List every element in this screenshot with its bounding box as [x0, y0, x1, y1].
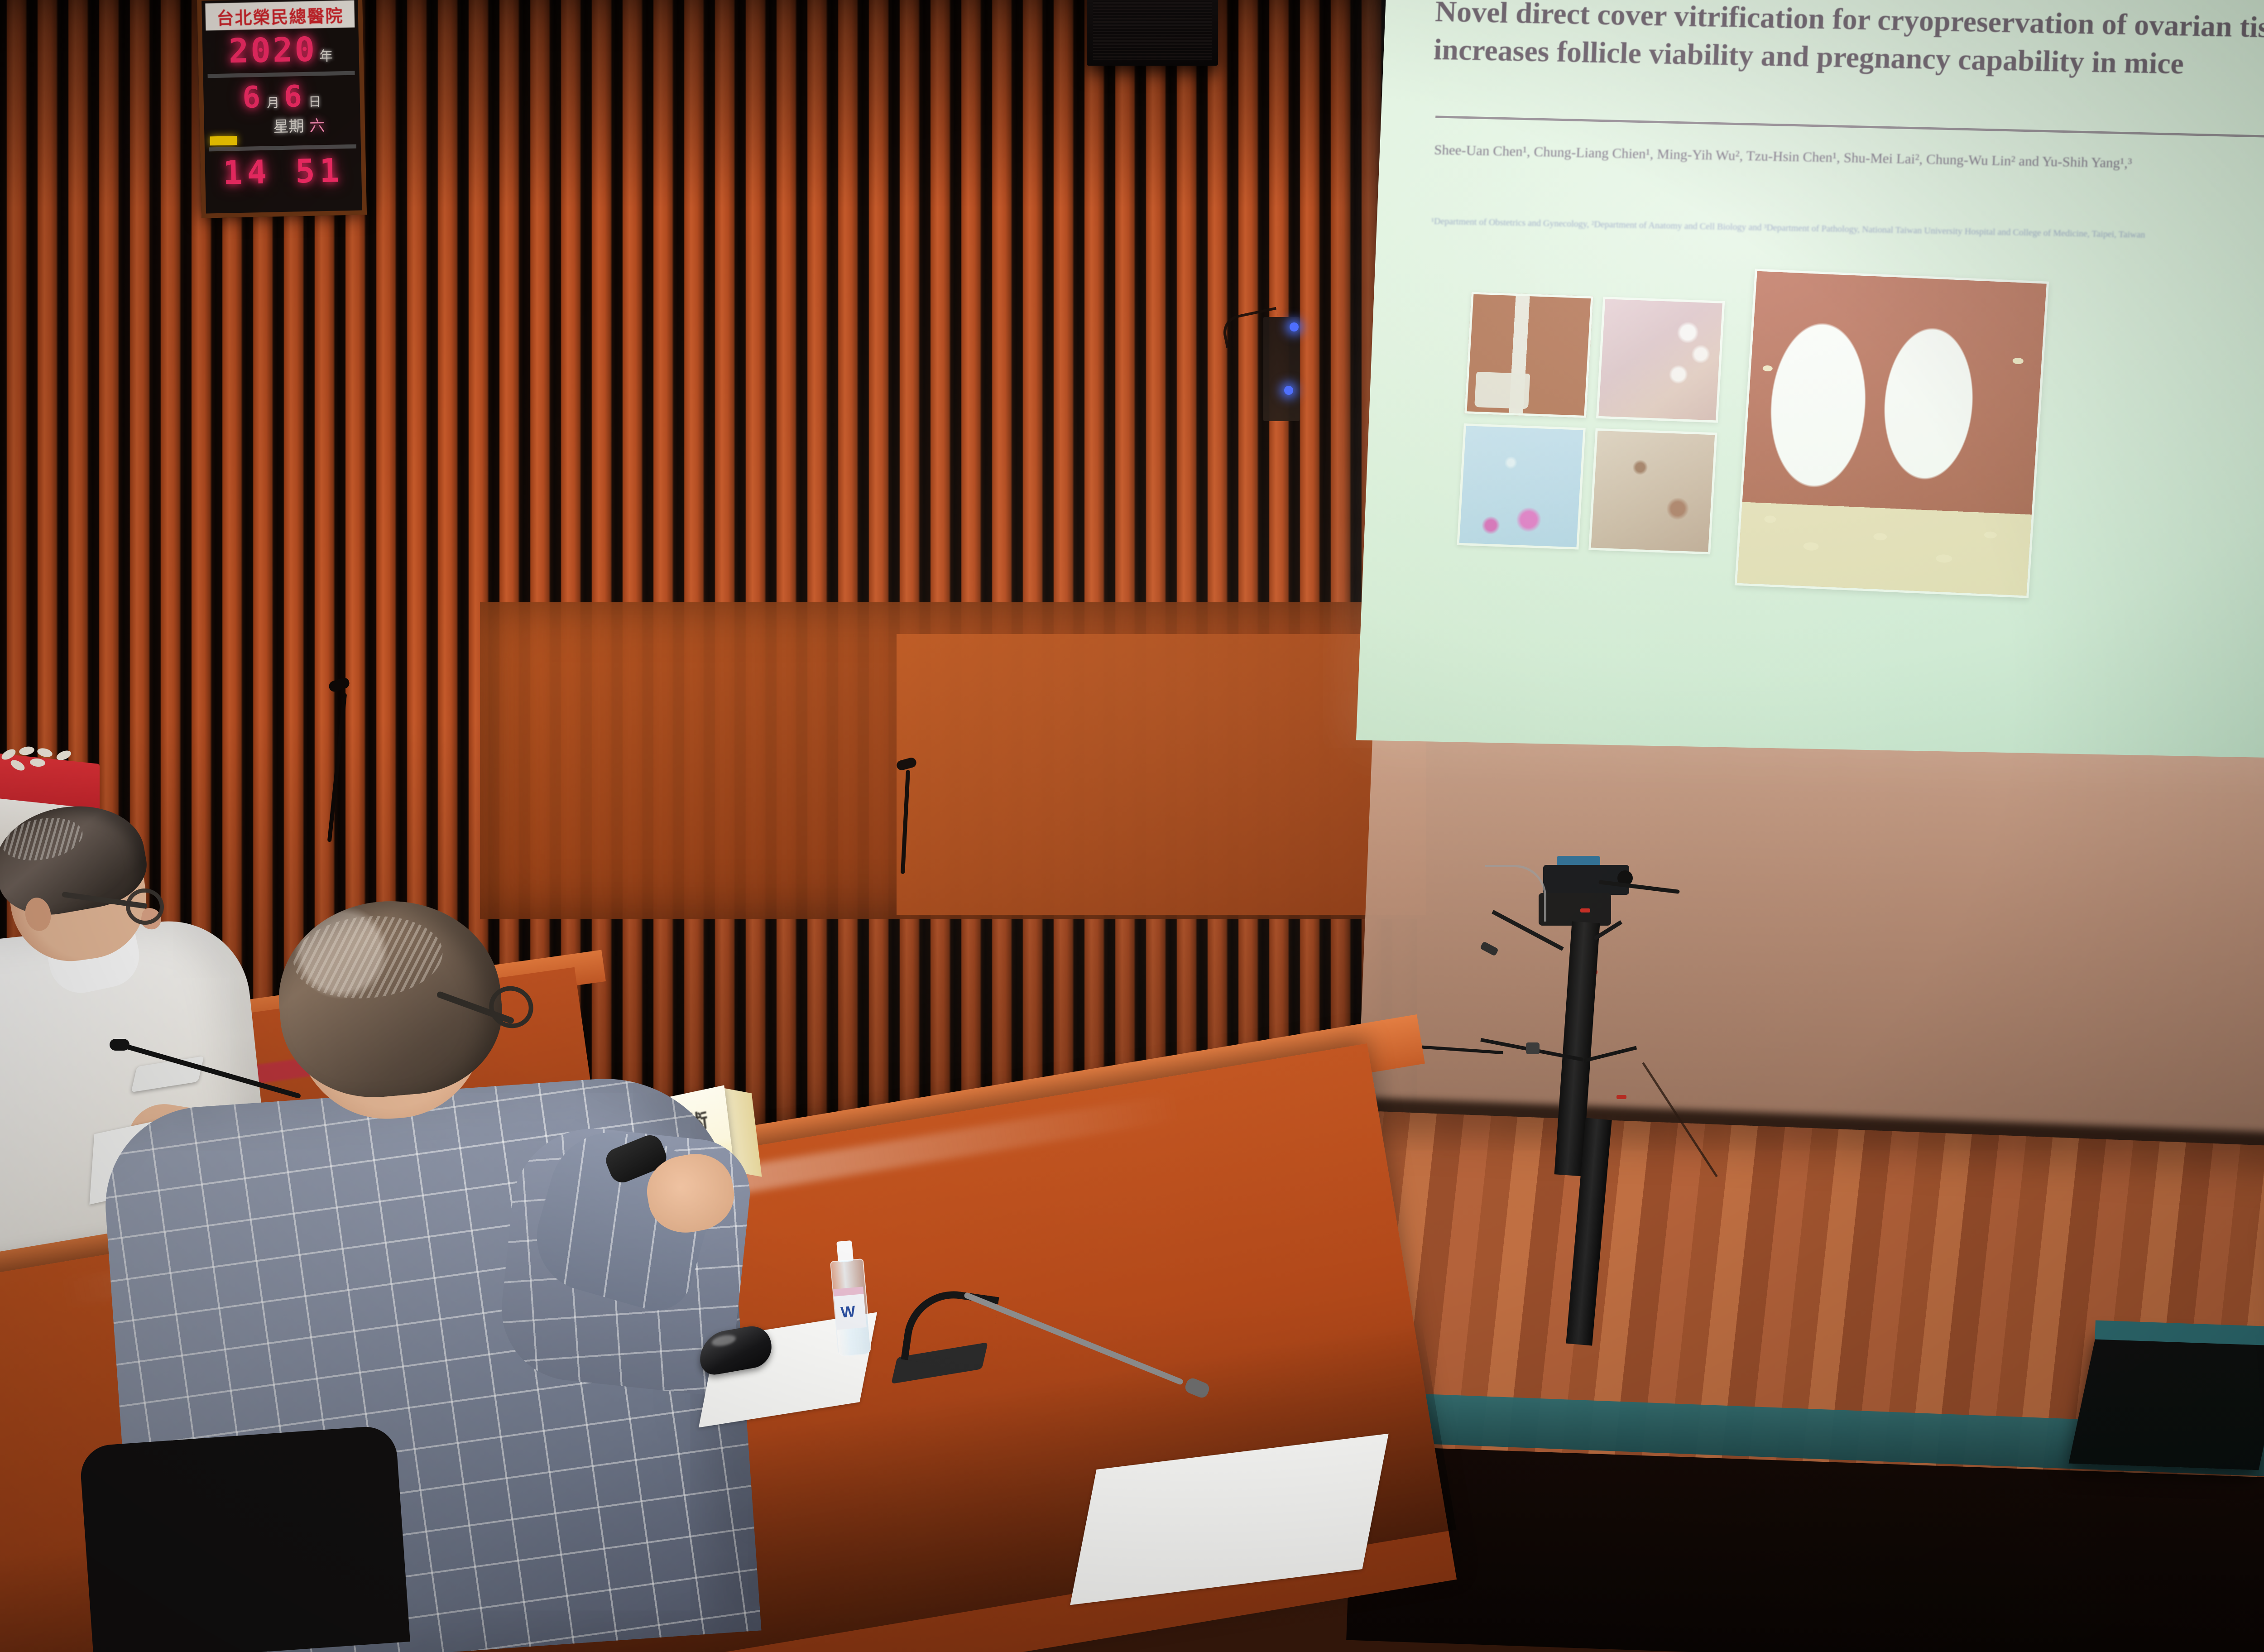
tripod-lock-marker [1616, 1095, 1626, 1099]
camera-tripod [1485, 865, 1766, 1417]
clock-year-unit: 年 [319, 45, 333, 65]
microphone-arm [964, 1292, 1184, 1385]
blue-led-indicator-icon [1284, 386, 1293, 395]
slide-affiliations: ¹Department of Obstetrics and Gynecology… [1431, 215, 2264, 245]
person-front-row [199, 901, 788, 1652]
slide-author-list: Shee-Uan Chen¹, Chung-Liang Chien¹, Ming… [1434, 139, 2213, 175]
ceiling-speaker-icon [1087, 0, 1218, 66]
clock-year: 2020 [228, 30, 317, 71]
tripod-lock-marker [1580, 908, 1590, 912]
tripod-fluid-head [1539, 893, 1611, 926]
clock-year-row: 2020 年 [202, 29, 360, 71]
clock-month-unit: 月 [267, 93, 280, 111]
wall-panel-secondary [897, 634, 1426, 915]
clock-accent-bar [210, 136, 237, 145]
video-camera-icon [1543, 865, 1629, 895]
desk-gooseneck-microphone[interactable] [897, 1282, 1204, 1426]
clock-time: 14 51 [222, 151, 344, 192]
hair [271, 892, 509, 1105]
chair-back [79, 1425, 410, 1652]
clock-hospital-name: 台北榮民總醫院 [205, 0, 355, 31]
microphone-head-icon [110, 1039, 130, 1051]
clock-divider [208, 71, 355, 78]
clock-date-row: 6 月 6 日 [203, 77, 360, 115]
clock-month: 6 [242, 80, 263, 115]
figure-immunohistochemistry [1588, 428, 1717, 555]
stage-monitor-speaker [2068, 1329, 2264, 1470]
bottle-label: W [834, 1294, 867, 1330]
slide-title: Novel direct cover vitrification for cry… [1433, 0, 2264, 87]
clock-weekday-label: 星期 [273, 114, 304, 136]
slide-rule-line [1435, 115, 2264, 139]
clock-day-unit: 日 [308, 92, 321, 110]
figure-mice-photo [1735, 269, 2049, 598]
figure-fluorescence-stain [1457, 423, 1585, 550]
clock-day: 6 [283, 79, 304, 114]
clock-time-row: 14 51 [205, 151, 362, 192]
clock-weekday-value: 六 [309, 113, 325, 136]
tripod-spreader [1583, 1046, 1637, 1063]
speaker-grill [1093, 0, 1212, 60]
tripod-spreader-lock [1526, 1042, 1540, 1054]
figure-histology-he [1596, 297, 1725, 423]
bottle-label-text: W [840, 1303, 856, 1322]
projection-screen: Human Reproduction Novel direct cover vi… [1356, 0, 2264, 763]
microphone-gooseneck [901, 1285, 999, 1372]
orchestra-pit-shadow [1346, 1445, 2264, 1652]
blue-led-indicator-icon [1290, 322, 1299, 331]
slide-figure-grid [1457, 292, 1725, 554]
digital-wall-clock: 台北榮民總醫院 2020 年 6 月 6 日 星期 六 14 51 [197, 0, 367, 218]
floor-cable [1642, 1062, 1718, 1177]
figure-vitrification-device [1464, 292, 1593, 418]
conference-hall-photo: 台北榮民總醫院 2020 年 6 月 6 日 星期 六 14 51 Human … [0, 0, 2264, 1652]
